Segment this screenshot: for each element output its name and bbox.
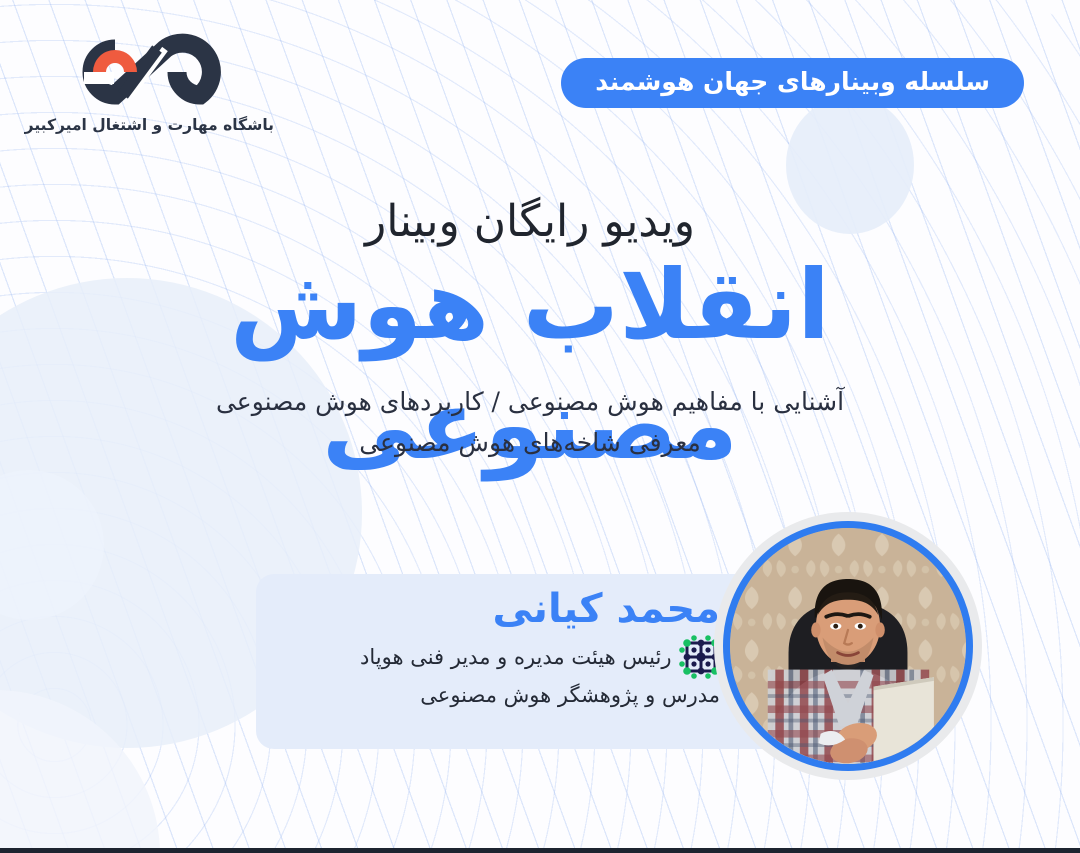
series-badge: سلسله وبینارهای جهان هوشمند	[561, 58, 1024, 108]
subtitle-line-2: معرفی شاخه‌های هوش مصنوعی	[180, 423, 880, 464]
hoopad-node-grid-icon	[679, 635, 723, 679]
club-name: باشگاه مهارت و اشتغال امیرکبیر	[44, 116, 274, 134]
club-logo: باشگاه مهارت و اشتغال امیرکبیر	[44, 32, 274, 134]
speaker-role-row-1: رئیس هیئت مدیره و مدیر فنی هوپاد	[360, 635, 720, 679]
speaker-portrait-image	[730, 528, 966, 764]
headline-eyebrow: ویدیو رایگان وبینار	[130, 196, 930, 249]
speaker-role-line-2: مدرس و پژوهشگر هوش مصنوعی	[360, 679, 720, 712]
speaker-photo	[723, 521, 973, 771]
webinar-poster: باشگاه مهارت و اشتغال امیرکبیر سلسله وبی…	[0, 0, 1080, 853]
speaker-info: محمد کیانی رئیس هیئت مدیره و مدیر فنی هو…	[360, 586, 720, 712]
infinity-monogram-icon	[69, 32, 249, 112]
speaker-name: محمد کیانی	[360, 586, 720, 633]
bottom-edge-bar	[0, 848, 1080, 853]
subtitle-block: آشنایی با مفاهیم هوش مصنوعی / کاربردهای …	[180, 382, 880, 463]
speaker-role-line-1: رئیس هیئت مدیره و مدیر فنی هوپاد	[360, 641, 671, 674]
subtitle-line-1: آشنایی با مفاهیم هوش مصنوعی / کاربردهای …	[180, 382, 880, 423]
background-circle-mid-left	[0, 470, 104, 620]
background-circle-bottom-left	[0, 690, 160, 853]
